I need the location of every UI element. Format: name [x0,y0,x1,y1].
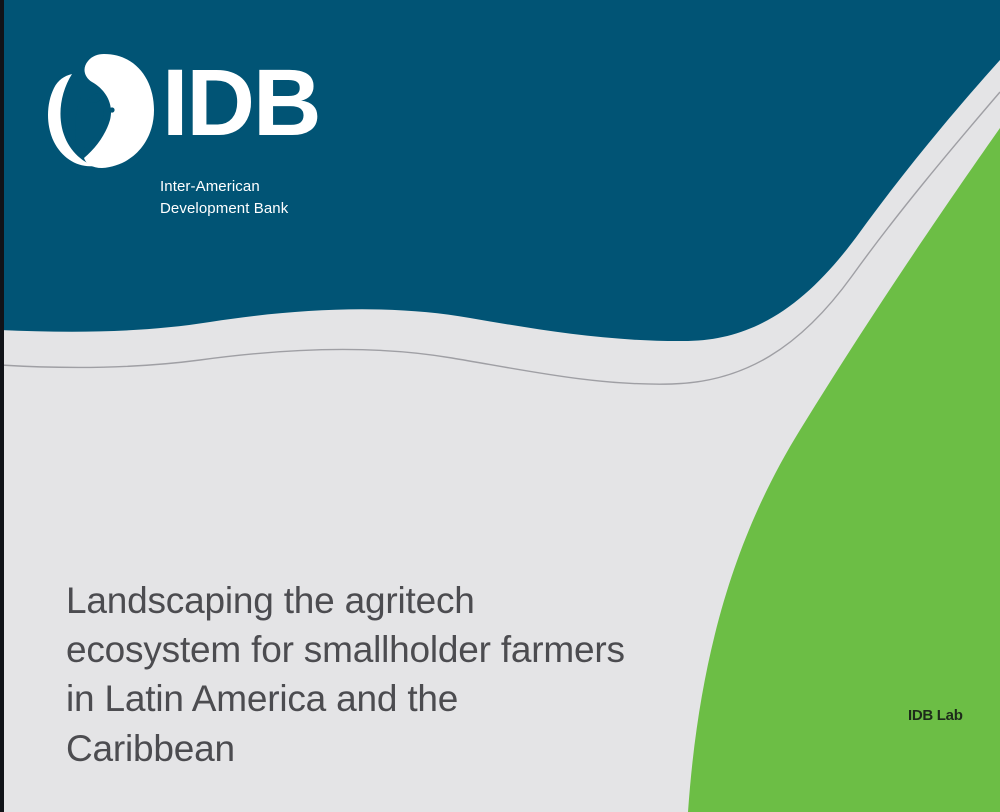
idb-wordmark: IDB [162,58,320,148]
idb-logo-row: IDB [44,52,320,170]
idb-logo-lockup: IDB Inter-American Development Bank [44,52,320,220]
idb-leaf-americas-mark-icon [44,52,156,170]
cover-title: Landscaping the agritech ecosystem for s… [66,576,666,773]
idb-tagline: Inter-American Development Bank [160,176,320,220]
report-cover-page: IDB Inter-American Development Bank Land… [0,0,1000,812]
idb-lab-label: IDB Lab [908,708,963,723]
left-edge-rule [0,0,4,812]
